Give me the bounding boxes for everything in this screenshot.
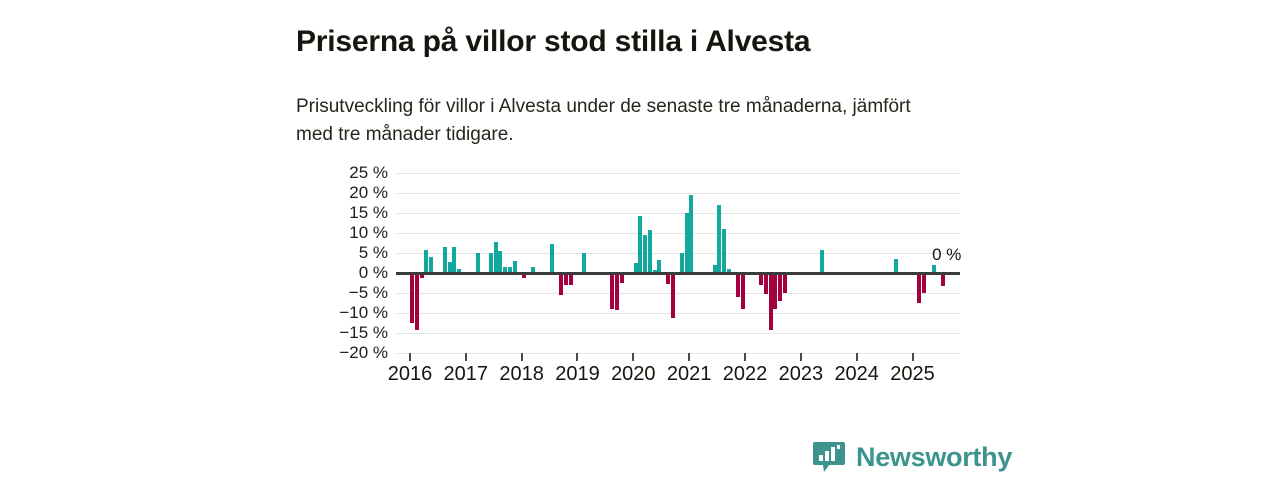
chart-bar (783, 273, 787, 293)
y-axis-tick-label: −5 % (318, 283, 388, 303)
x-axis-ticks (396, 353, 960, 363)
chart-bar (452, 247, 456, 273)
x-axis-tick-label: 2024 (834, 363, 879, 386)
chart-bar (894, 259, 898, 273)
chart-bar (671, 273, 675, 318)
x-axis-tick-label: 2019 (555, 363, 600, 386)
x-axis-tick-label: 2022 (723, 363, 768, 386)
chart-bar (638, 216, 642, 273)
gridline (396, 313, 960, 314)
chart-bar (648, 230, 652, 273)
gridline (396, 233, 960, 234)
chart-bar (443, 247, 447, 273)
chart-bar (476, 253, 480, 273)
x-axis-tick (912, 353, 914, 361)
chart-bar (494, 242, 498, 273)
brand-wordmark: Newsworthy (856, 442, 1012, 473)
chart-bar (922, 273, 926, 293)
chart-bar (917, 273, 921, 303)
chart-bar (429, 257, 433, 273)
page-title: Priserna på villor stod stilla i Alvesta (296, 24, 1196, 60)
gridline (396, 193, 960, 194)
y-axis-tick-label: −15 % (318, 323, 388, 343)
chart-bar (415, 273, 419, 330)
x-axis-tick-label: 2025 (890, 363, 935, 386)
x-axis-tick (521, 353, 523, 361)
chart-bar (410, 273, 414, 323)
chart-bar (778, 273, 782, 301)
x-axis-tick-label: 2017 (444, 363, 489, 386)
chart-bar (680, 253, 684, 273)
x-axis-tick (800, 353, 802, 361)
x-axis-tick (688, 353, 690, 361)
x-axis-tick (744, 353, 746, 361)
chart-bar (736, 273, 740, 297)
y-axis-tick-label: 20 % (318, 183, 388, 203)
x-axis-tick-label: 2020 (611, 363, 656, 386)
y-axis-tick-label: −10 % (318, 303, 388, 323)
zero-axis-line (396, 272, 960, 275)
chart-bar (769, 273, 773, 330)
y-axis-tick-label: −20 % (318, 343, 388, 363)
y-axis-labels: 25 %20 %15 %10 %5 %0 %−5 %−10 %−15 %−20 … (316, 173, 388, 353)
gridline (396, 253, 960, 254)
chart-bar (615, 273, 619, 310)
y-axis-tick-label: 15 % (318, 203, 388, 223)
price-development-bar-chart: 25 %20 %15 %10 %5 %0 %−5 %−10 %−15 %−20 … (0, 160, 1280, 390)
y-axis-tick-label: 5 % (318, 243, 388, 263)
plot-area (396, 173, 960, 353)
y-axis-tick-label: 10 % (318, 223, 388, 243)
chart-bar (610, 273, 614, 309)
x-axis-tick-label: 2018 (499, 363, 544, 386)
chart-bar (764, 273, 768, 294)
y-axis-tick-label: 0 % (318, 263, 388, 283)
chart-bar (722, 229, 726, 273)
x-axis-tick (409, 353, 411, 361)
y-axis-tick-label: 25 % (318, 163, 388, 183)
chart-bar (424, 250, 428, 273)
x-axis-tick (576, 353, 578, 361)
gridline (396, 293, 960, 294)
chart-bar (489, 253, 493, 273)
chart-bar (582, 253, 586, 273)
chart-bar (643, 235, 647, 273)
chart-bar (773, 273, 777, 309)
x-axis-tick (465, 353, 467, 361)
chart-bar (498, 251, 502, 273)
x-axis-tick (632, 353, 634, 361)
chart-bar (550, 244, 554, 273)
chart-bar (741, 273, 745, 309)
x-axis-labels: 2016201720182019202020212022202320242025 (396, 363, 960, 393)
newsworthy-logo: Newsworthy (812, 440, 1012, 474)
chart-bar (689, 195, 693, 273)
chart-page: Priserna på villor stod stilla i Alvesta… (0, 0, 1280, 480)
x-axis-tick-label: 2021 (667, 363, 712, 386)
x-axis-tick (856, 353, 858, 361)
value-annotation: 0 % (932, 245, 961, 265)
chart-bar (559, 273, 563, 295)
x-axis-tick-label: 2023 (779, 363, 824, 386)
chart-bar (820, 250, 824, 273)
gridline (396, 173, 960, 174)
gridline (396, 333, 960, 334)
chart-subtitle: Prisutveckling för villor i Alvesta unde… (296, 93, 936, 148)
chart-bar (717, 205, 721, 273)
chart-bar (685, 213, 689, 273)
x-axis-tick-label: 2016 (388, 363, 433, 386)
bar-chart-speech-bubble-icon (812, 440, 846, 474)
gridline (396, 213, 960, 214)
